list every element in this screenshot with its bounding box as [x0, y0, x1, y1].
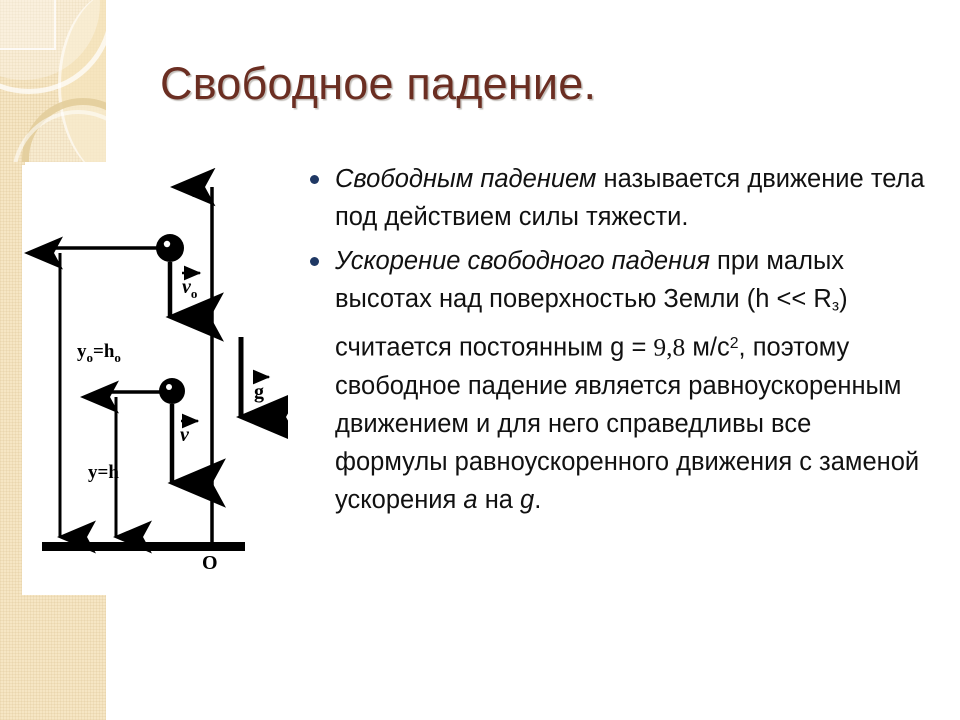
bullet-definition: Свободным падением называется движение т… [305, 160, 925, 236]
ground-surface [42, 542, 245, 551]
origin-label: O [202, 552, 218, 574]
y-axis-label: Y [189, 180, 204, 202]
ball-current [159, 378, 185, 404]
initial-height-label: yo=ho [77, 341, 121, 365]
page-title: Свободное падение. [160, 58, 900, 110]
decorative-bottom-block [0, 585, 106, 720]
g-value: 9,8 [653, 333, 685, 362]
decorative-square-outline [0, 0, 56, 50]
variable-a: a [463, 486, 477, 514]
acceleration-lead-term: Ускорение свободного падения [335, 247, 710, 275]
definition-lead-term: Свободным падением [335, 165, 596, 193]
bullet-definition-text: Свободным падением называется движение т… [335, 160, 925, 236]
current-height-label: y=h [88, 462, 119, 483]
g-units: м/с [685, 334, 729, 362]
decorative-corner-graphic [0, 0, 106, 162]
body-content: Свободным падением называется движение т… [305, 160, 925, 525]
bullet-acceleration-text: Ускорение свободного падения при малых в… [335, 242, 925, 519]
ball-initial-highlight [164, 241, 170, 247]
units-exponent: 2 [730, 335, 739, 352]
initial-velocity-label: vo [182, 276, 197, 301]
acceleration-part-4: на [478, 486, 520, 514]
earth-radius-subscript: з [832, 297, 839, 314]
ball-initial [156, 234, 184, 262]
bullet-acceleration: Ускорение свободного падения при малых в… [305, 242, 925, 519]
bullet-dot-icon [310, 175, 319, 184]
acceleration-part-5: . [534, 486, 541, 514]
variable-g: g [520, 486, 534, 514]
free-fall-diagram: Y O yo=ho vo y=h [22, 165, 288, 595]
velocity-label: v [180, 424, 190, 446]
ball-current-highlight [166, 384, 172, 390]
bullet-dot-icon [310, 257, 319, 266]
decorative-circle-small [12, 110, 106, 162]
gravity-label: g [254, 381, 264, 403]
slide-canvas: Свободное падение. Y O [0, 0, 960, 720]
